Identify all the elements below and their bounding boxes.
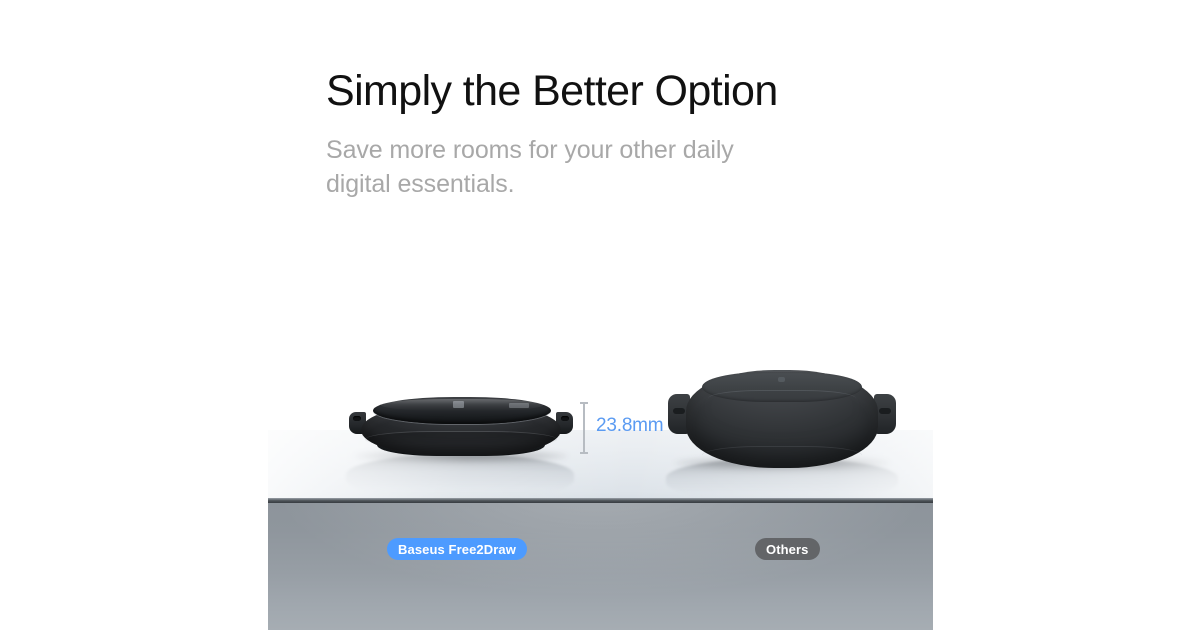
height-measurement: 23.8mm xyxy=(583,402,585,454)
page-title: Simply the Better Option xyxy=(326,66,946,117)
copy-block: Simply the Better Option Save more rooms… xyxy=(326,66,946,202)
page-subtitle: Save more rooms for your other daily dig… xyxy=(326,133,786,202)
product-cable-slot-left xyxy=(353,416,361,421)
others-top-cap xyxy=(702,372,862,402)
others-cable-slot-left xyxy=(673,408,685,414)
platform-front-face xyxy=(268,503,933,630)
measurement-cap-top xyxy=(580,402,588,404)
others-cable-slot-right xyxy=(879,408,891,414)
product-label-others: Others xyxy=(755,538,820,560)
measurement-cap-bottom xyxy=(580,452,588,454)
measurement-value: 23.8mm xyxy=(596,415,663,437)
product-seam-line xyxy=(365,431,557,448)
measurement-line xyxy=(583,402,585,454)
promo-page: Simply the Better Option Save more rooms… xyxy=(0,0,1200,630)
product-image-baseus-free2draw xyxy=(349,394,573,458)
product-label-baseus: Baseus Free2Draw xyxy=(387,538,527,560)
product-image-others xyxy=(668,370,896,470)
product-cable-slot-right xyxy=(561,416,569,421)
product-glossy-lid xyxy=(373,397,551,424)
